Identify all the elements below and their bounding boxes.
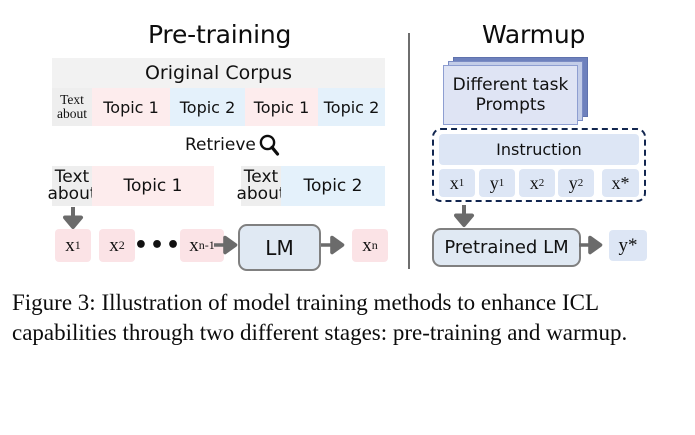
lm-model-box: LM <box>238 224 321 271</box>
retrieve-label: Retrieve <box>185 135 256 155</box>
demo-cell-x-star: x* <box>602 169 639 197</box>
demo-cell-y1-base: y <box>490 173 499 194</box>
retrieve-row: Retrieve <box>185 133 280 157</box>
token-x2-sub: 2 <box>119 238 125 253</box>
retrieved-doc-2-topic: Topic 2 <box>281 166 385 206</box>
prompt-label-line2: Prompts <box>476 95 546 115</box>
panel-divider <box>408 33 410 269</box>
token-ellipsis: ••• <box>138 229 178 262</box>
demo-cell-x1-base: x <box>450 173 459 194</box>
demo-cell-y2-base: y <box>569 173 578 194</box>
text-about-line2: about <box>57 107 87 121</box>
text-about-line1: Text <box>60 93 84 107</box>
demo-cell-y2-sub: 2 <box>578 177 584 189</box>
token-x1-base: x <box>65 235 75 257</box>
arrow-right-from-pretrained-lm <box>578 234 600 258</box>
demo-cell-x2-sub: 2 <box>539 177 545 189</box>
original-corpus-label: Original Corpus <box>52 60 385 86</box>
retrieved-doc-2-prefix: Text about <box>241 166 281 206</box>
token-xn-output: xn <box>352 229 388 262</box>
retrieved-doc-1-prefix: Text about <box>52 166 92 206</box>
corpus-cell-topic-2-b: Topic 2 <box>318 88 385 126</box>
demo-cell-y2: y2 <box>558 169 594 197</box>
panel-title-pretraining: Pre-training <box>148 20 291 49</box>
corpus-cell-topic-1-a: Topic 1 <box>92 88 170 126</box>
token-x1: x1 <box>55 229 91 262</box>
arrow-down-to-pretrained-lm <box>452 204 476 228</box>
search-icon <box>258 133 280 157</box>
prompt-label-line1: Different task <box>453 75 569 95</box>
token-x1-sub: 1 <box>75 238 81 253</box>
different-task-prompts-label: Different task Prompts <box>443 65 578 125</box>
token-x2-base: x <box>109 235 119 257</box>
token-xn-output-base: x <box>362 235 372 257</box>
corpus-cell-topic-2-a: Topic 2 <box>170 88 245 126</box>
demo-cell-y1: y1 <box>479 169 515 197</box>
pretrained-lm-box: Pretrained LM <box>432 228 581 267</box>
instruction-block: Instruction <box>439 134 639 165</box>
token-xn-output-sub: n <box>372 238 378 253</box>
token-xn-minus-1-base: x <box>189 235 199 257</box>
demo-cell-x2-base: x <box>530 173 539 194</box>
token-x2: x2 <box>99 229 135 262</box>
retrieved-doc-1-prefix-line2: about <box>47 186 96 203</box>
panel-title-warmup: Warmup <box>482 20 585 49</box>
output-y-star: y* <box>609 230 647 261</box>
demo-cell-x1-sub: 1 <box>459 177 465 189</box>
demo-cell-y1-sub: 1 <box>499 177 505 189</box>
demo-cell-x2: x2 <box>519 169 555 197</box>
corpus-cell-text-about: Text about <box>52 88 92 126</box>
figure-canvas: Pre-training Warmup Original Corpus Text… <box>0 0 695 435</box>
retrieved-doc-1-topic: Topic 1 <box>92 166 214 206</box>
figure-caption: Figure 3: Illustration of model training… <box>12 288 672 349</box>
retrieved-doc-2-prefix-line2: about <box>236 186 285 203</box>
arrow-right-from-lm <box>320 234 342 258</box>
arrow-down-to-tokens <box>61 206 85 230</box>
demo-cell-x1: x1 <box>439 169 475 197</box>
arrow-right-to-lm <box>213 234 235 258</box>
corpus-cell-topic-1-b: Topic 1 <box>245 88 318 126</box>
